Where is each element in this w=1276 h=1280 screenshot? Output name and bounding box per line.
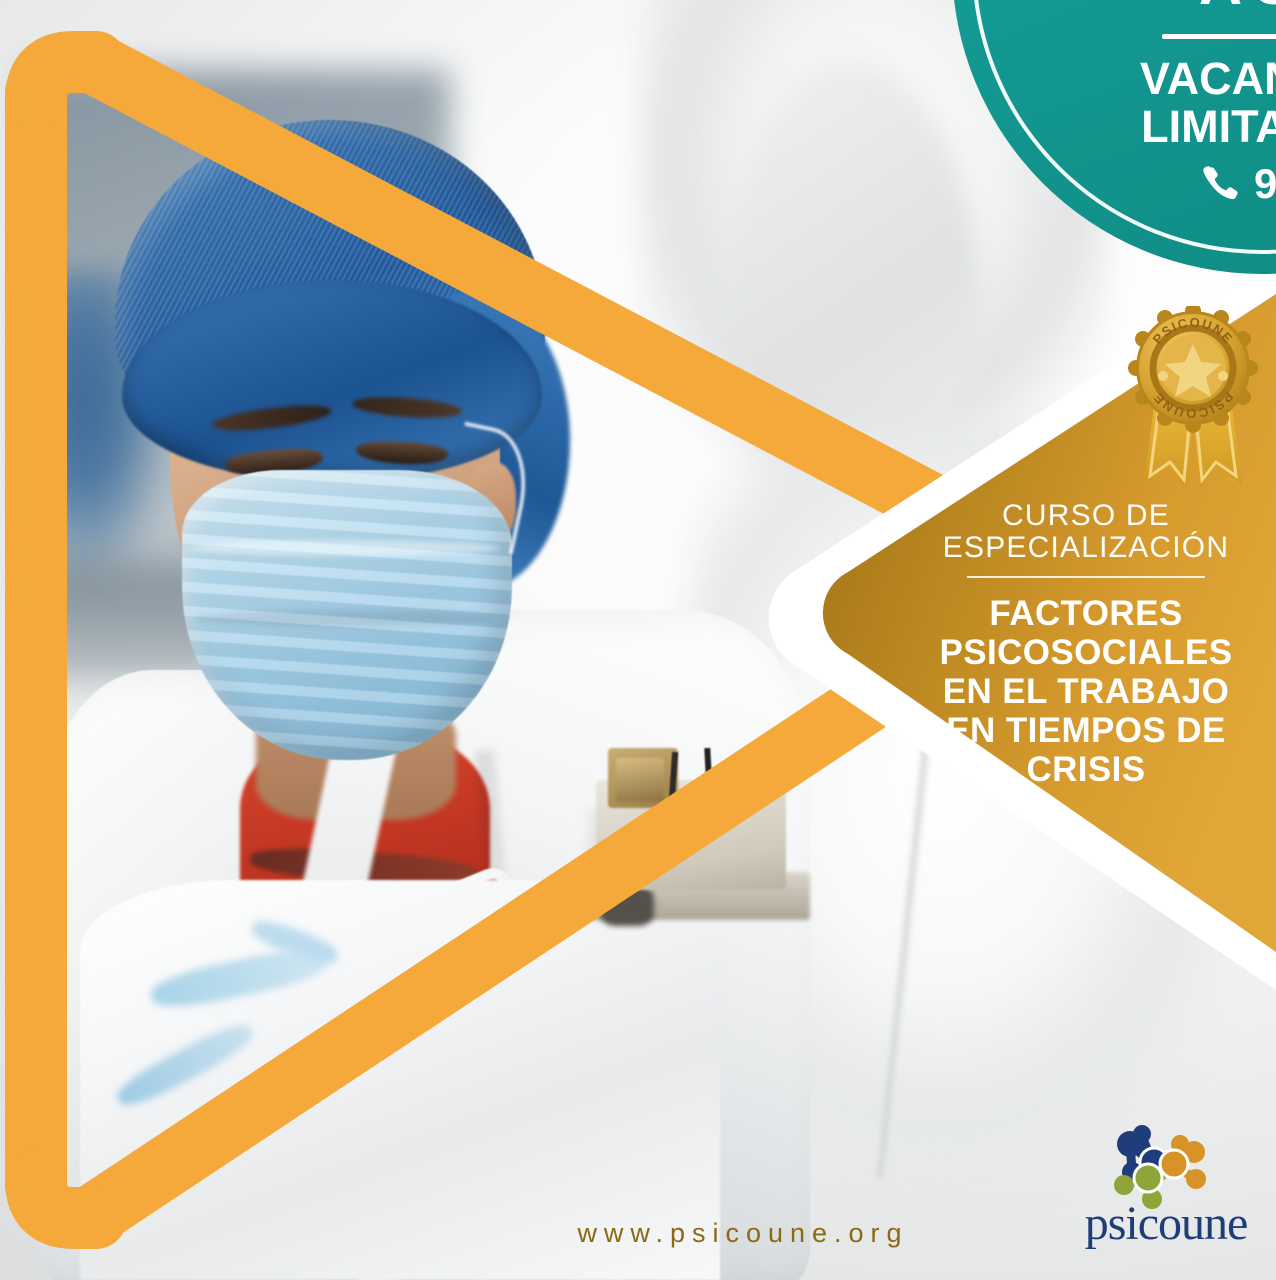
course-title: FACTORES PSICOSOCIALES EN EL TRABAJO EN … (936, 594, 1236, 790)
promotional-poster: CURSO DE ESPECIALIZACIÓN FACTORES PSICOS… (0, 0, 1276, 1280)
gold-panel-text: CURSO DE ESPECIALIZACIÓN FACTORES PSICOS… (936, 500, 1236, 790)
price-label: A S/. (986, 0, 1276, 14)
badge-divider (1162, 34, 1276, 39)
award-medal-icon: PSICOUNE PSICOUNE (1108, 306, 1276, 496)
phone-icon (1200, 164, 1240, 204)
course-kicker: CURSO DE ESPECIALIZACIÓN (936, 500, 1236, 564)
title-divider (967, 576, 1205, 578)
mask-pleat (194, 610, 494, 626)
badge-content: A S/. VACANTES LIMITADAS 958 (952, 0, 1276, 208)
phone-number: 958 (1254, 160, 1276, 208)
phone-row[interactable]: 958 (986, 160, 1276, 208)
vacantes-label: VACANTES LIMITADAS (986, 55, 1276, 150)
mask-pleat (190, 540, 500, 556)
medal-seal: PSICOUNE PSICOUNE (1128, 306, 1258, 433)
website-url[interactable]: www.psicoune.org (0, 1218, 1276, 1249)
